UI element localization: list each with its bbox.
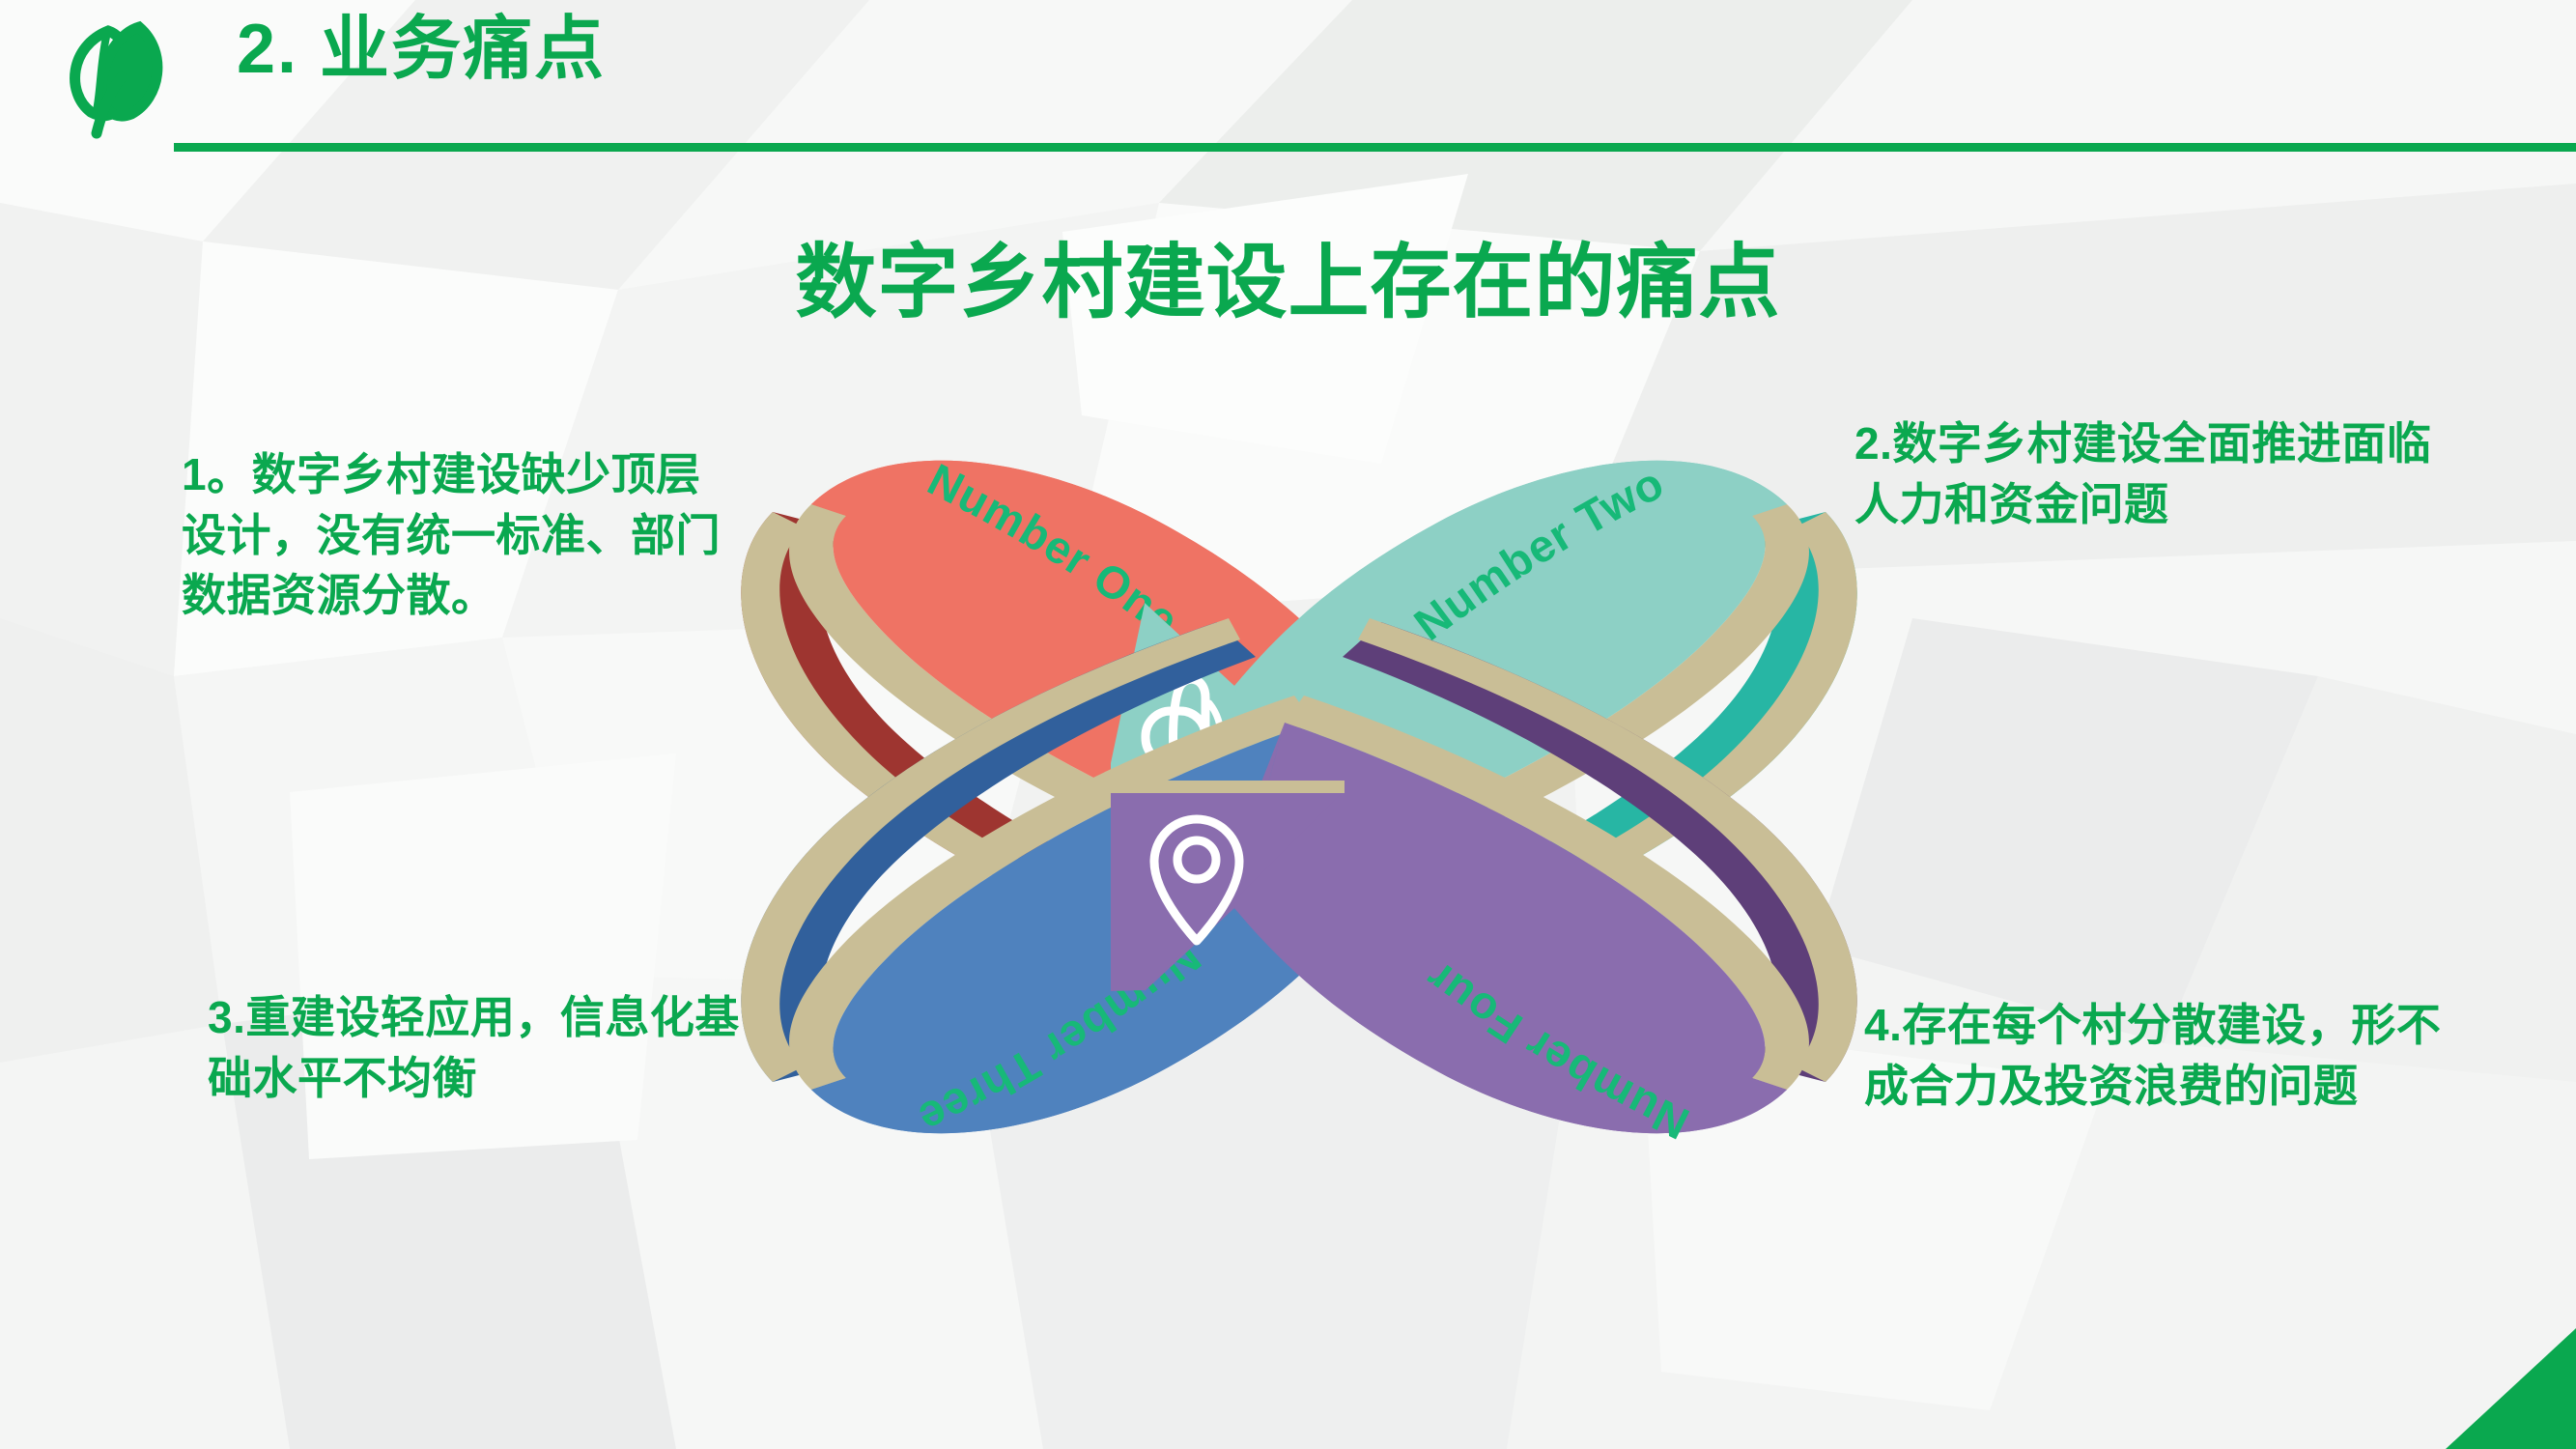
- slide-header: 2. 业务痛点: [0, 0, 2576, 164]
- corner-accent-triangle: [2354, 1328, 2576, 1449]
- callout-text-2: 2.数字乡村建设全面推进面临人力和资金问题: [1854, 413, 2434, 534]
- leaf-icon: [46, 10, 182, 145]
- callout-text-1: 1。数字乡村建设缺少顶层设计，没有统一标准、部门数据资源分散。: [182, 444, 732, 626]
- callout-text-4: 4.存在每个村分散建设，形不成合力及投资浪费的问题: [1864, 995, 2444, 1116]
- arm-four-base-edge: [1109, 781, 1345, 793]
- header-divider: [174, 143, 2576, 152]
- pinwheel-diagram: Number One Number Two: [676, 396, 1922, 1198]
- headline-text: 数字乡村建设上存在的痛点: [0, 217, 2576, 334]
- slide-canvas: 2. 业务痛点 数字乡村建设上存在的痛点 1。数字乡村建设缺少顶层设计，没有统一…: [0, 0, 2576, 1449]
- page-title: 2. 业务痛点: [237, 12, 606, 88]
- callout-text-3: 3.重建设轻应用，信息化基础水平不均衡: [208, 987, 749, 1108]
